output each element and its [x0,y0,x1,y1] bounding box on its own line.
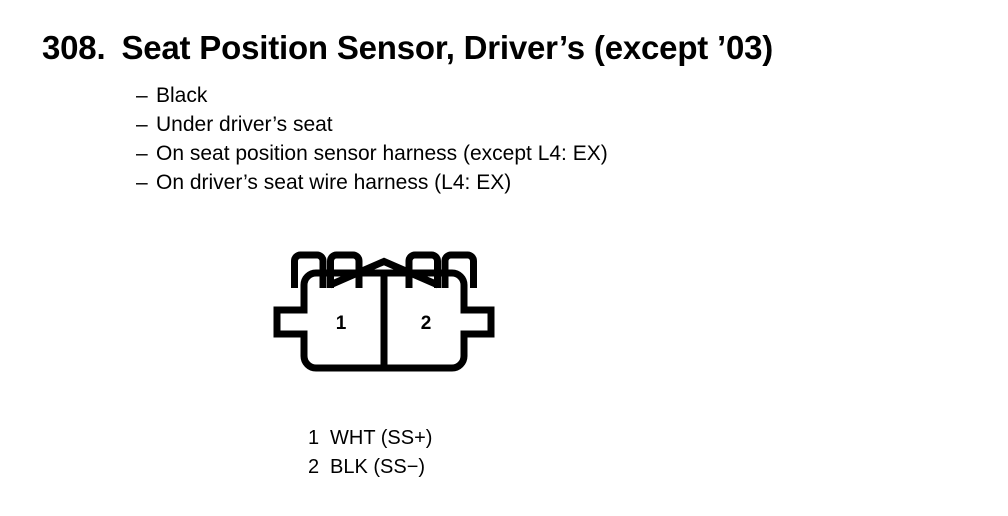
page-title-text: Seat Position Sensor, Driver’s (except ’… [121,29,773,66]
pin-legend-number: 1 [308,424,330,453]
dash-icon: – [136,81,156,110]
connector-diagram: 1 2 [268,248,500,378]
dash-icon: – [136,110,156,139]
spec-list-item-label: Black [156,81,207,110]
spec-list-item: – Black [136,81,608,110]
pin-legend-row: 1 WHT (SS+) [308,424,432,453]
spec-list-item-label: Under driver’s seat [156,110,333,139]
pin-legend-row: 2 BLK (SS−) [308,453,432,482]
spec-list-item: – Under driver’s seat [136,110,608,139]
spec-list: – Black – Under driver’s seat – On seat … [136,81,608,197]
dash-icon: – [136,139,156,168]
connector-outline [277,255,491,368]
spec-list-item-label: On driver’s seat wire harness (L4: EX) [156,168,511,197]
pin-legend-label: WHT (SS+) [330,424,432,453]
dash-icon: – [136,168,156,197]
pin-legend: 1 WHT (SS+) 2 BLK (SS−) [308,424,432,482]
spec-list-item: – On seat position sensor harness (excep… [136,139,608,168]
page-title-number: 308. [42,28,105,68]
spec-list-item: – On driver’s seat wire harness (L4: EX) [136,168,608,197]
pin-legend-number: 2 [308,453,330,482]
connector-pin-2-number: 2 [421,313,432,334]
spec-list-item-label: On seat position sensor harness (except … [156,139,608,168]
page-title: 308.Seat Position Sensor, Driver’s (exce… [42,28,773,68]
connector-pin-1-number: 1 [336,313,347,334]
pin-legend-label: BLK (SS−) [330,453,425,482]
